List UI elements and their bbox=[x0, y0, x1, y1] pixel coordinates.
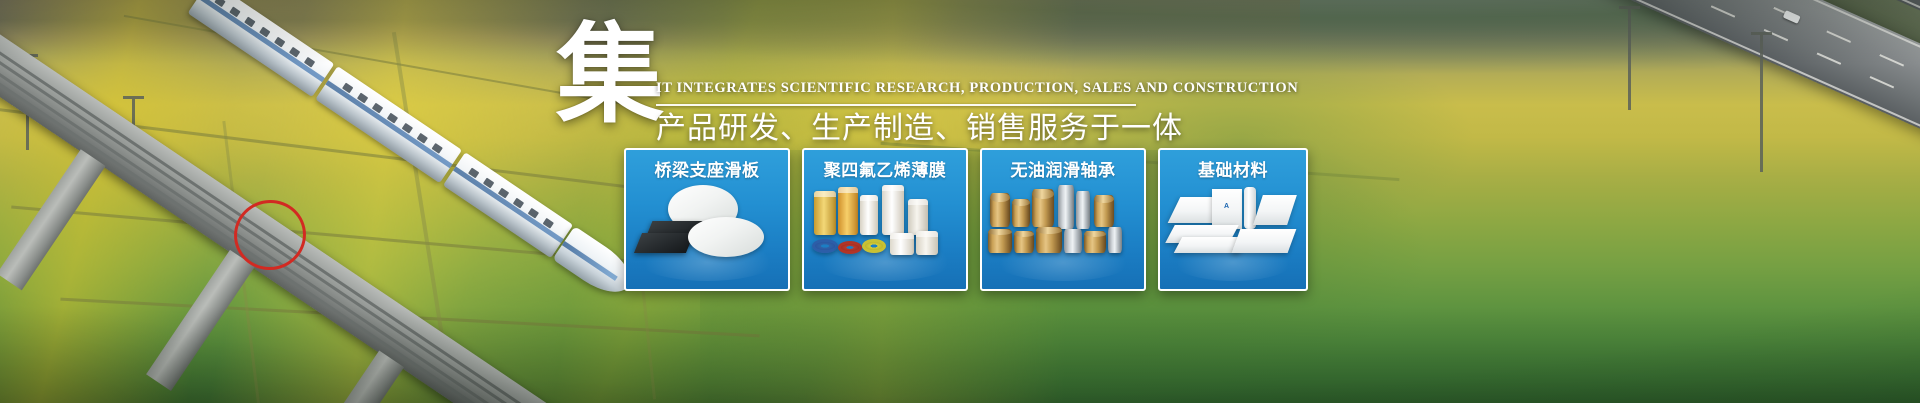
headline-big-character: 集 bbox=[556, 20, 664, 132]
utility-pole bbox=[1628, 6, 1631, 110]
product-card-row: 桥梁支座滑板 聚四氟乙烯薄膜 bbox=[624, 148, 1308, 291]
viaduct-pier bbox=[295, 351, 404, 403]
bridge-bearing-slide-plate-icon bbox=[626, 181, 788, 289]
product-card-base-material[interactable]: 基础材料 A bbox=[1158, 148, 1308, 291]
viaduct-pier bbox=[0, 149, 106, 290]
product-card-title: 无油润滑轴承 bbox=[1011, 161, 1116, 181]
viaduct-pier bbox=[146, 250, 255, 391]
ptfe-film-roll-icon bbox=[804, 181, 966, 289]
product-card-title: 聚四氟乙烯薄膜 bbox=[824, 161, 947, 181]
product-card-title: 基础材料 bbox=[1198, 161, 1268, 181]
headline-english-tagline: IT INTEGRATES SCIENTIFIC RESEARCH, PRODU… bbox=[656, 80, 1298, 97]
utility-pole bbox=[1760, 32, 1763, 172]
headline-chinese-subtitle: 产品研发、生产制造、销售服务于一体 bbox=[656, 109, 1183, 149]
product-card-title: 桥梁支座滑板 bbox=[655, 161, 760, 181]
base-material-block-icon: A bbox=[1160, 181, 1306, 289]
oil-free-bearing-icon bbox=[982, 181, 1144, 289]
product-card-ptfe-film[interactable]: 聚四氟乙烯薄膜 bbox=[802, 148, 968, 291]
product-card-bridge-bearing-slide-plate[interactable]: 桥梁支座滑板 bbox=[624, 148, 790, 291]
headline-block: 集 IT INTEGRATES SCIENTIFIC RESEARCH, PRO… bbox=[556, 24, 1176, 136]
product-card-oil-free-bearing[interactable]: 无油润滑轴承 bbox=[980, 148, 1146, 291]
hero-banner: 集 IT INTEGRATES SCIENTIFIC RESEARCH, PRO… bbox=[0, 0, 1920, 403]
headline-divider-rule bbox=[656, 104, 1136, 106]
